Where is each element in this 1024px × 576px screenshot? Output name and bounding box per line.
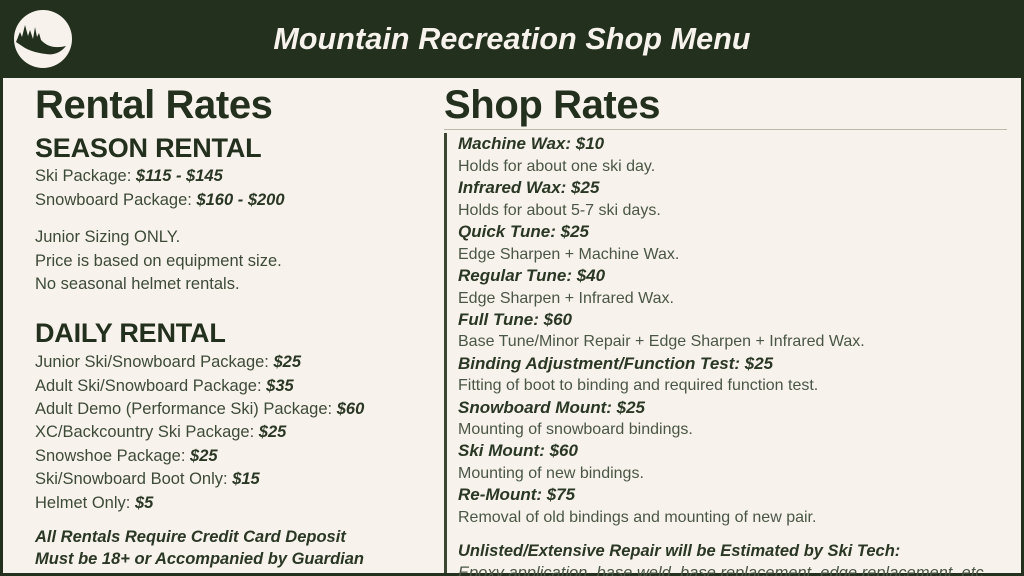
- page-title: Mountain Recreation Shop Menu: [273, 22, 750, 57]
- daily-rental-item: Adult Demo (Performance Ski) Package: $6…: [35, 398, 420, 421]
- shop-service-item: Snowboard Mount: $25 Mounting of snowboa…: [458, 397, 1007, 441]
- season-note: Price is based on equipment size.: [35, 250, 420, 273]
- daily-rental-item: Ski/Snowboard Boot Only: $15: [35, 468, 420, 491]
- rental-rates-heading: Rental Rates: [35, 84, 420, 126]
- service-name: Ski Mount: $60: [458, 440, 1007, 463]
- service-description: Removal of old bindings and mounting of …: [458, 507, 1007, 528]
- shop-heading-divider: [444, 129, 1007, 130]
- item-price: $35: [266, 377, 294, 395]
- item-price: $25: [190, 447, 218, 465]
- item-label: XC/Backcountry Ski Package:: [35, 423, 254, 441]
- season-note: Junior Sizing ONLY.: [35, 226, 420, 249]
- service-name: Infrared Wax: $25: [458, 177, 1007, 200]
- shop-footer-title: Unlisted/Extensive Repair will be Estima…: [458, 540, 1007, 562]
- daily-rental-item: Snowshoe Package: $25: [35, 445, 420, 468]
- menu-columns: Rental Rates SEASON RENTAL Ski Package: …: [3, 78, 1021, 573]
- shop-service-item: Infrared Wax: $25 Holds for about 5-7 sk…: [458, 177, 1007, 221]
- service-description: Mounting of snowboard bindings.: [458, 419, 1007, 440]
- service-description: Base Tune/Minor Repair + Edge Sharpen + …: [458, 331, 1007, 352]
- service-name: Regular Tune: $40: [458, 265, 1007, 288]
- service-description: Edge Sharpen + Infrared Wax.: [458, 288, 1007, 309]
- service-name: Re-Mount: $75: [458, 484, 1007, 507]
- shop-rates-column: Shop Rates Machine Wax: $10 Holds for ab…: [444, 84, 1021, 573]
- item-price: $60: [337, 400, 365, 418]
- daily-rental-item: XC/Backcountry Ski Package: $25: [35, 421, 420, 444]
- season-rental-item: Snowboard Package: $160 - $200: [35, 189, 420, 212]
- mountain-circle-logo-icon: [10, 6, 76, 72]
- item-label: Ski Package:: [35, 167, 131, 185]
- item-price: $160 - $200: [196, 191, 284, 209]
- item-price: $25: [273, 353, 301, 371]
- service-name: Quick Tune: $25: [458, 221, 1007, 244]
- item-label: Ski/Snowboard Boot Only:: [35, 470, 228, 488]
- season-rental-subheading: SEASON RENTAL: [35, 133, 420, 165]
- item-label: Junior Ski/Snowboard Package:: [35, 353, 269, 371]
- shop-service-item: Binding Adjustment/Function Test: $25 Fi…: [458, 353, 1007, 397]
- item-price: $15: [232, 470, 260, 488]
- service-description: Holds for about one ski day.: [458, 156, 1007, 177]
- rental-footnote: All Rentals Require Credit Card Deposit: [35, 526, 420, 548]
- shop-service-item: Regular Tune: $40 Edge Sharpen + Infrare…: [458, 265, 1007, 309]
- item-price: $25: [259, 423, 287, 441]
- service-name: Machine Wax: $10: [458, 133, 1007, 156]
- rental-footnotes: All Rentals Require Credit Card Deposit …: [35, 526, 420, 576]
- rental-footnote: Must be 18+ or Accompanied by Guardian: [35, 548, 420, 570]
- service-name: Full Tune: $60: [458, 309, 1007, 332]
- item-label: Snowboard Package:: [35, 191, 192, 209]
- shop-service-item: Ski Mount: $60 Mounting of new bindings.: [458, 440, 1007, 484]
- menu-poster: Mountain Recreation Shop Menu Rental Rat…: [0, 0, 1024, 576]
- item-label: Adult Ski/Snowboard Package:: [35, 377, 262, 395]
- daily-rental-item: Adult Ski/Snowboard Package: $35: [35, 375, 420, 398]
- item-label: Helmet Only:: [35, 494, 130, 512]
- daily-rental-item: Helmet Only: $5: [35, 492, 420, 515]
- service-description: Holds for about 5-7 ski days.: [458, 200, 1007, 221]
- shop-rates-heading: Shop Rates: [444, 84, 1007, 126]
- service-name: Binding Adjustment/Function Test: $25: [458, 353, 1007, 376]
- daily-rental-list: Junior Ski/Snowboard Package: $25 Adult …: [35, 351, 420, 515]
- shop-services-list: Machine Wax: $10 Holds for about one ski…: [444, 133, 1007, 573]
- service-description: Fitting of boot to binding and required …: [458, 375, 1007, 396]
- service-description: Edge Sharpen + Machine Wax.: [458, 244, 1007, 265]
- service-name: Snowboard Mount: $25: [458, 397, 1007, 420]
- shop-footer-description: Epoxy application, base weld, base repla…: [458, 562, 1007, 576]
- daily-rental-item: Junior Ski/Snowboard Package: $25: [35, 351, 420, 374]
- rental-rates-column: Rental Rates SEASON RENTAL Ski Package: …: [3, 84, 428, 573]
- daily-rental-subheading: DAILY RENTAL: [35, 318, 420, 350]
- service-description: Mounting of new bindings.: [458, 463, 1007, 484]
- shop-service-item: Full Tune: $60 Base Tune/Minor Repair + …: [458, 309, 1007, 353]
- item-label: Adult Demo (Performance Ski) Package:: [35, 400, 332, 418]
- item-price: $5: [135, 494, 153, 512]
- page-header: Mountain Recreation Shop Menu: [3, 0, 1021, 78]
- shop-service-item: Re-Mount: $75 Removal of old bindings an…: [458, 484, 1007, 528]
- season-rental-item: Ski Package: $115 - $145: [35, 165, 420, 188]
- season-note: No seasonal helmet rentals.: [35, 273, 420, 296]
- shop-service-item: Machine Wax: $10 Holds for about one ski…: [458, 133, 1007, 177]
- shop-service-item: Quick Tune: $25 Edge Sharpen + Machine W…: [458, 221, 1007, 265]
- season-rental-notes: Junior Sizing ONLY. Price is based on eq…: [35, 226, 420, 296]
- shop-footer-note: Unlisted/Extensive Repair will be Estima…: [458, 540, 1007, 576]
- item-label: Snowshoe Package:: [35, 447, 185, 465]
- item-price: $115 - $145: [136, 167, 223, 185]
